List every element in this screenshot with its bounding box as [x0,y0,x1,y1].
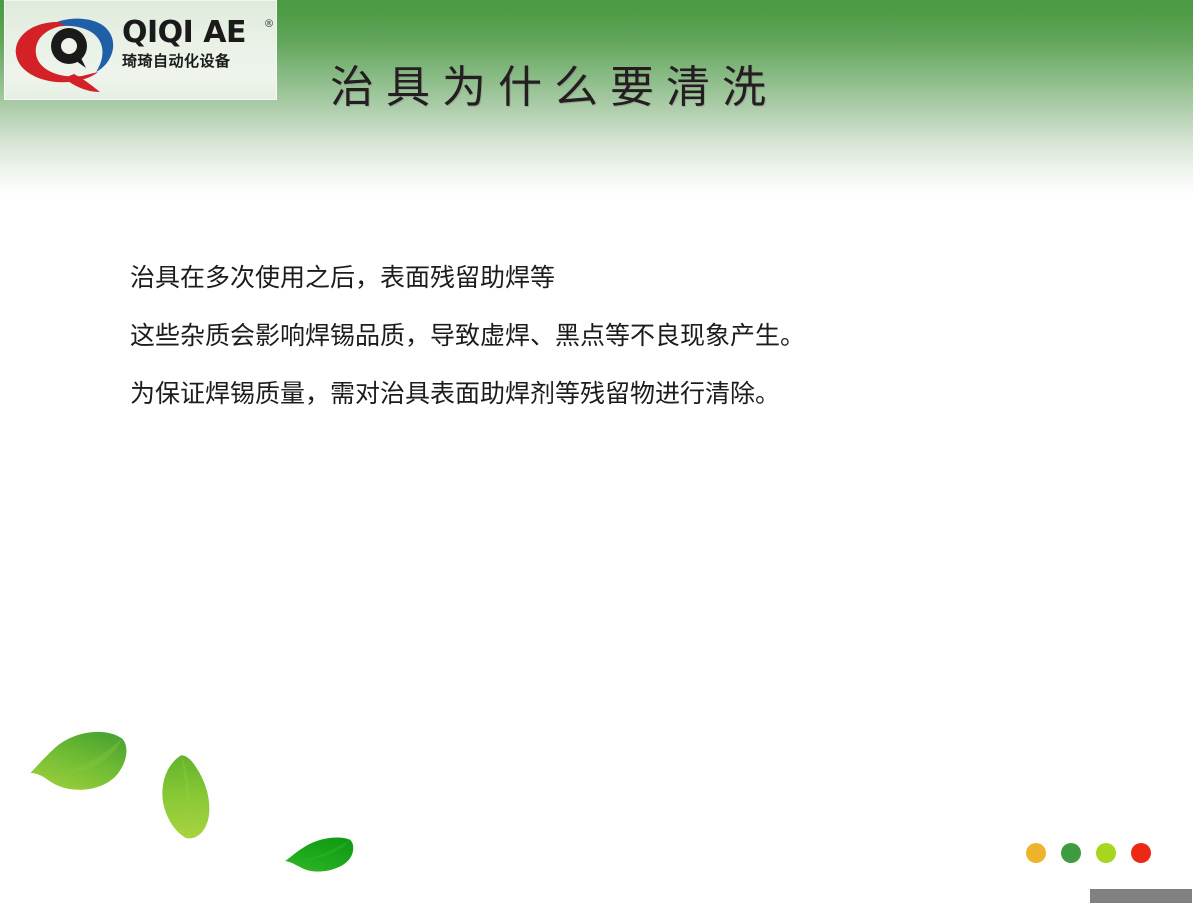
body-line: 为保证焊锡质量，需对治具表面助焊剂等残留物进行清除。 [130,382,1090,407]
header-right-edge [1193,0,1201,200]
registered-trademark-icon: ® [264,18,275,29]
body-line: 治具在多次使用之后，表面残留助焊等 [130,266,1090,291]
logo-wordmark-label: QIQI AE [122,15,246,50]
dot-lime-icon [1096,843,1116,863]
leaf-large-icon [23,721,139,810]
logo-wordmark: QIQI AE ® 琦琦自动化设备 [122,18,272,88]
logo-inner: QIQI AE ® 琦琦自动化设备 [4,8,277,94]
slide-canvas: QIQI AE ® 琦琦自动化设备 治具为什么要清洗 治具在多次使用之后，表面残… [0,0,1201,906]
leaf-small-icon [282,833,359,881]
logo-plaque: QIQI AE ® 琦琦自动化设备 [4,0,277,100]
leaf-medium-icon [134,749,240,854]
dot-red-icon [1131,843,1151,863]
dot-green-icon [1061,843,1081,863]
body-text-block: 治具在多次使用之后，表面残留助焊等 这些杂质会影响焊锡品质，导致虚焊、黑点等不良… [130,266,1090,407]
bottom-accent-bar [1090,889,1192,903]
slide-title: 治具为什么要清洗 [330,66,1030,110]
body-line: 这些杂质会影响焊锡品质，导致虚焊、黑点等不良现象产生。 [130,324,1090,349]
logo-wordmark-text: QIQI AE ® [122,18,272,48]
dot-row [1026,843,1151,863]
dot-amber-icon [1026,843,1046,863]
qiqi-swirl-logo-icon [12,12,122,92]
logo-subtitle: 琦琦自动化设备 [122,54,272,69]
